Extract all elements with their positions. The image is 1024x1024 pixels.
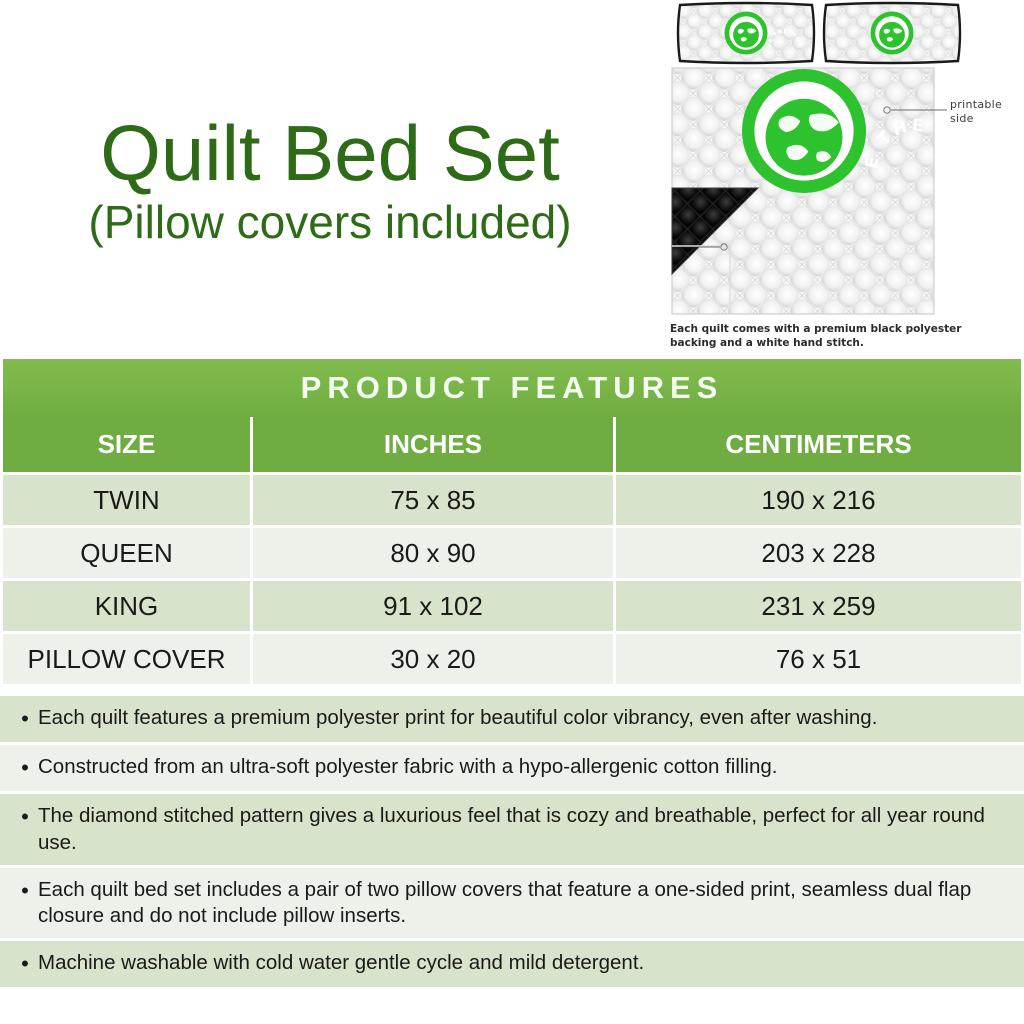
page-title: Quilt Bed Set — [0, 116, 660, 190]
bullet-icon: • — [12, 705, 38, 733]
quilt-body: LOVE THE WORLD — [672, 68, 971, 314]
bullet-icon: • — [12, 803, 38, 831]
cell-centimeters: 190 x 216 — [616, 475, 1024, 528]
cell-size: QUEEN — [3, 528, 253, 581]
list-item: • Each quilt bed set includes a pair of … — [0, 868, 1024, 941]
cell-centimeters: 203 x 228 — [616, 528, 1024, 581]
list-item-text: The diamond stitched pattern gives a lux… — [38, 803, 1002, 855]
list-item-text: Each quilt features a premium polyester … — [38, 705, 885, 731]
backing-caption: Each quilt comes with a premium black po… — [670, 322, 970, 350]
cell-inches: 75 x 85 — [253, 475, 616, 528]
list-item: • Constructed from an ultra-soft polyest… — [0, 745, 1024, 794]
cell-centimeters: 76 x 51 — [616, 634, 1024, 687]
table-header-row: SIZE INCHES CENTIMETERS — [0, 417, 1024, 475]
list-item: • Each quilt features a premium polyeste… — [0, 696, 1024, 745]
table-banner: PRODUCT FEATURES — [0, 357, 1024, 417]
table-row: KING 91 x 102 231 x 259 — [0, 581, 1024, 634]
list-item: • The diamond stitched pattern gives a l… — [0, 794, 1024, 867]
cell-inches: 91 x 102 — [253, 581, 616, 634]
list-item-text: Each quilt bed set includes a pair of tw… — [38, 877, 1002, 929]
column-header-centimeters: CENTIMETERS — [616, 417, 1024, 475]
bullet-icon: • — [12, 877, 38, 905]
list-item-text: Constructed from an ultra-soft polyester… — [38, 754, 785, 780]
table-row: TWIN 75 x 85 190 x 216 — [0, 475, 1024, 528]
bullet-icon: • — [12, 950, 38, 978]
list-item: • Machine washable with cold water gentl… — [0, 941, 1024, 990]
cell-size: TWIN — [3, 475, 253, 528]
title-block: Quilt Bed Set (Pillow covers included) — [0, 116, 660, 252]
printable-side-callout: printable side — [950, 98, 1002, 126]
list-item-text: Machine washable with cold water gentle … — [38, 950, 652, 976]
table-row: PILLOW COVER 30 x 20 76 x 51 — [0, 634, 1024, 687]
feature-bullet-list: • Each quilt features a premium polyeste… — [0, 696, 1024, 990]
printable-side-line1: printable — [950, 98, 1002, 112]
table-banner-title: PRODUCT FEATURES — [301, 370, 724, 406]
product-features-table: PRODUCT FEATURES SIZE INCHES CENTIMETERS… — [0, 357, 1024, 687]
cell-inches: 30 x 20 — [253, 634, 616, 687]
cell-size: KING — [3, 581, 253, 634]
cell-size: PILLOW COVER — [3, 634, 253, 687]
quilt-bed-set-illustration: LOVE THE WORLD — [662, 0, 1024, 352]
bullet-icon: • — [12, 754, 38, 782]
printable-side-line2: side — [950, 112, 1002, 126]
cell-inches: 80 x 90 — [253, 528, 616, 581]
pillow-right — [824, 3, 960, 63]
page-subtitle: (Pillow covers included) — [0, 194, 660, 252]
column-header-inches: INCHES — [253, 417, 616, 475]
product-image: LOVE THE WORLD — [662, 0, 1024, 352]
pillow-left: LOVE THE WORLD — [678, 3, 814, 63]
column-header-size: SIZE — [3, 417, 253, 475]
cell-centimeters: 231 x 259 — [616, 581, 1024, 634]
table-row: QUEEN 80 x 90 203 x 228 — [0, 528, 1024, 581]
